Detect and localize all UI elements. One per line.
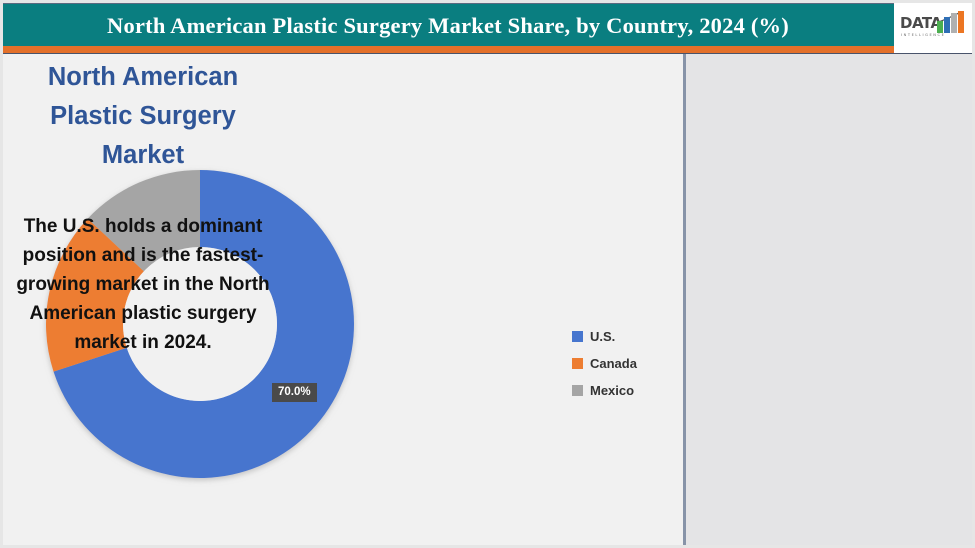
brand-logo: DATA INTELLIGENCE — [894, 3, 972, 46]
infographic-canvas: North American Plastic Surgery Market Sh… — [0, 0, 975, 548]
callout-body: The U.S. holds a dominant position and i… — [12, 212, 274, 357]
legend-item-us[interactable]: U.S. — [572, 323, 672, 350]
logo-tagline: INTELLIGENCE — [901, 33, 945, 38]
logo-bar-4 — [958, 11, 964, 33]
logo-wordmark: DATA — [900, 16, 942, 31]
header-accent-stripe-right — [894, 46, 972, 53]
logo-bar-3 — [951, 13, 957, 33]
page-title: North American Plastic Surgery Market Sh… — [3, 4, 893, 47]
legend-item-canada[interactable]: Canada — [572, 350, 672, 377]
logo-bar-chart-icon — [937, 11, 966, 33]
legend-label-canada: Canada — [590, 350, 637, 377]
header-bar: North American Plastic Surgery Market Sh… — [3, 3, 972, 46]
legend-label-us: U.S. — [590, 323, 615, 350]
data-label-us: 70.0% — [272, 383, 317, 402]
legend-swatch-canada — [572, 358, 583, 369]
callout-title: North American Plastic Surgery Market — [14, 58, 272, 175]
legend-item-mexico[interactable]: Mexico — [572, 377, 672, 404]
logo-bar-1 — [937, 21, 943, 33]
chart-legend: U.S. Canada Mexico — [572, 323, 672, 404]
legend-swatch-us — [572, 331, 583, 342]
legend-swatch-mexico — [572, 385, 583, 396]
logo-inner: DATA INTELLIGENCE — [900, 9, 966, 41]
legend-label-mexico: Mexico — [590, 377, 634, 404]
callout-panel — [686, 53, 972, 545]
logo-bar-2 — [944, 17, 950, 33]
header-accent-stripe — [3, 46, 894, 53]
